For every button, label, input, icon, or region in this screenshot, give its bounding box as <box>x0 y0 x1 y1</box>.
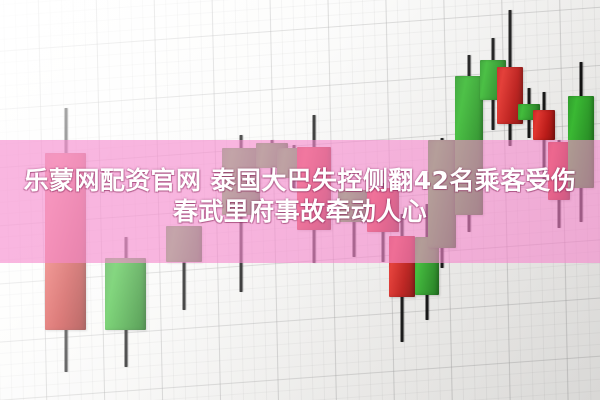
candlestick-series <box>0 0 600 400</box>
candlestick-banner-image: 乐蒙网配资官网 泰国大巴失控侧翻42名乘客受伤 春武里府事故牵动人心 <box>0 0 600 400</box>
candle-body-up <box>568 96 594 188</box>
candle-body-up <box>455 76 483 215</box>
candle-10 <box>389 0 415 400</box>
candle-body-down <box>297 147 331 230</box>
candle-12 <box>428 0 456 400</box>
candle-body-down <box>45 153 86 330</box>
candle-8 <box>338 0 370 400</box>
candle-19 <box>568 0 594 400</box>
candle-body-up <box>166 226 202 262</box>
candle-4 <box>222 0 260 400</box>
candle-body-down <box>389 236 415 297</box>
candle-18 <box>548 0 570 400</box>
candle-body-down <box>548 142 570 200</box>
candle-13 <box>455 0 483 400</box>
candle-body-up <box>105 258 146 330</box>
candle-body-up <box>428 140 456 248</box>
candle-2 <box>105 0 146 400</box>
candle-1 <box>45 0 86 400</box>
candle-3 <box>166 0 202 400</box>
candle-body-up <box>338 190 370 222</box>
candle-7 <box>297 0 331 400</box>
candle-body-up <box>222 148 260 215</box>
